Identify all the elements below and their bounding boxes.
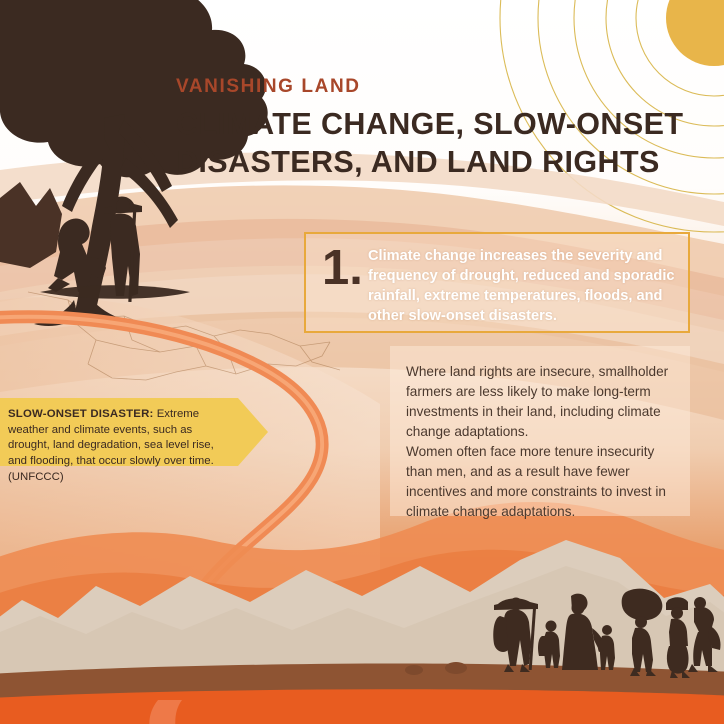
- numbered-callout-box: 1. Climate change increases the severity…: [304, 232, 690, 333]
- callout-number: 1.: [322, 244, 363, 293]
- ground-rock-a: [405, 665, 423, 675]
- body-paragraph-1: Where land rights are insecure, smallhol…: [406, 362, 678, 442]
- headline-line-1: CLIMATE CHANGE, SLOW-ONSET: [176, 107, 683, 141]
- page-title: CLIMATE CHANGE, SLOW-ONSET DISASTERS, AN…: [176, 106, 724, 181]
- definition-term: SLOW-ONSET DISASTER:: [8, 408, 154, 420]
- body-paragraph-2: Women often face more tenure insecurity …: [406, 442, 678, 522]
- callout-text: Climate change increases the severity an…: [368, 247, 680, 326]
- definition-text: SLOW-ONSET DISASTER: Extreme weather and…: [8, 407, 230, 485]
- definition-callout: SLOW-ONSET DISASTER: Extreme weather and…: [0, 398, 268, 466]
- figure-carrying-pot: [666, 597, 690, 678]
- infographic-poster: VANISHING LAND CLIMATE CHANGE, SLOW-ONSE…: [0, 0, 724, 724]
- ground-rock-b: [445, 662, 467, 674]
- eyebrow-label: VANISHING LAND: [176, 76, 361, 98]
- body-text-panel: Where land rights are insecure, smallhol…: [390, 346, 690, 516]
- headline-line-2: DISASTERS, AND LAND RIGHTS: [176, 144, 724, 182]
- foreground-orange: [0, 689, 724, 724]
